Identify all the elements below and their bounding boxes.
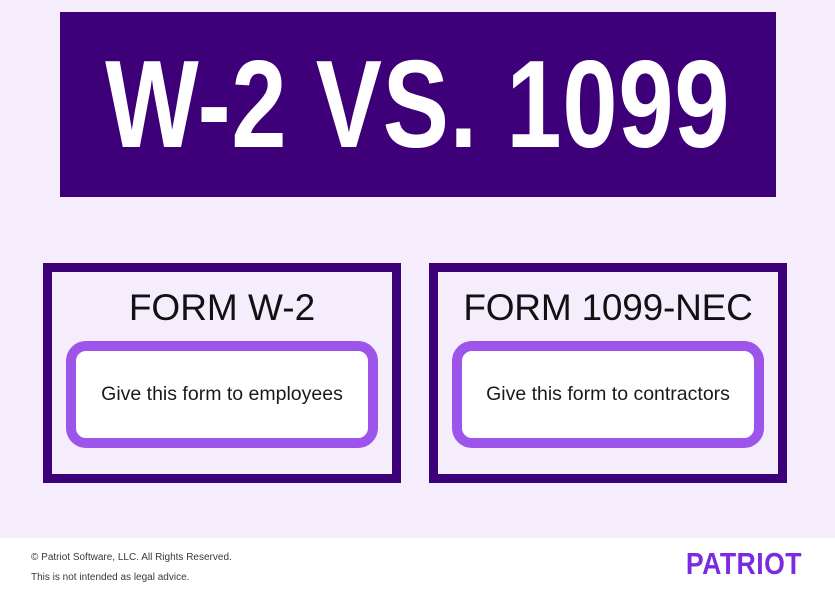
disclaimer-line: This is not intended as legal advice. xyxy=(31,568,232,588)
callout-text-1099-nec: Give this form to contractors xyxy=(474,380,742,408)
callout-box-w2: Give this form to employees xyxy=(66,341,378,448)
page-title: W-2 VS. 1099 xyxy=(105,43,730,167)
card-heading-1099-nec: FORM 1099-NEC xyxy=(463,289,752,326)
patriot-logo: PATRIOT xyxy=(672,548,802,578)
infographic-canvas: W-2 VS. 1099 FORM W-2 Give this form to … xyxy=(0,0,835,600)
patriot-wordmark: PATRIOT xyxy=(686,548,802,579)
card-heading-w2: FORM W-2 xyxy=(129,289,315,326)
callout-box-1099-nec: Give this form to contractors xyxy=(452,341,764,448)
footer-legal-text: © Patriot Software, LLC. All Rights Rese… xyxy=(31,548,232,587)
copyright-line: © Patriot Software, LLC. All Rights Rese… xyxy=(31,548,232,568)
callout-text-w2: Give this form to employees xyxy=(89,380,355,408)
card-form-1099-nec: FORM 1099-NEC Give this form to contract… xyxy=(429,263,787,483)
title-banner: W-2 VS. 1099 xyxy=(60,12,776,197)
card-form-w2: FORM W-2 Give this form to employees xyxy=(43,263,401,483)
comparison-cards: FORM W-2 Give this form to employees FOR… xyxy=(0,263,835,485)
